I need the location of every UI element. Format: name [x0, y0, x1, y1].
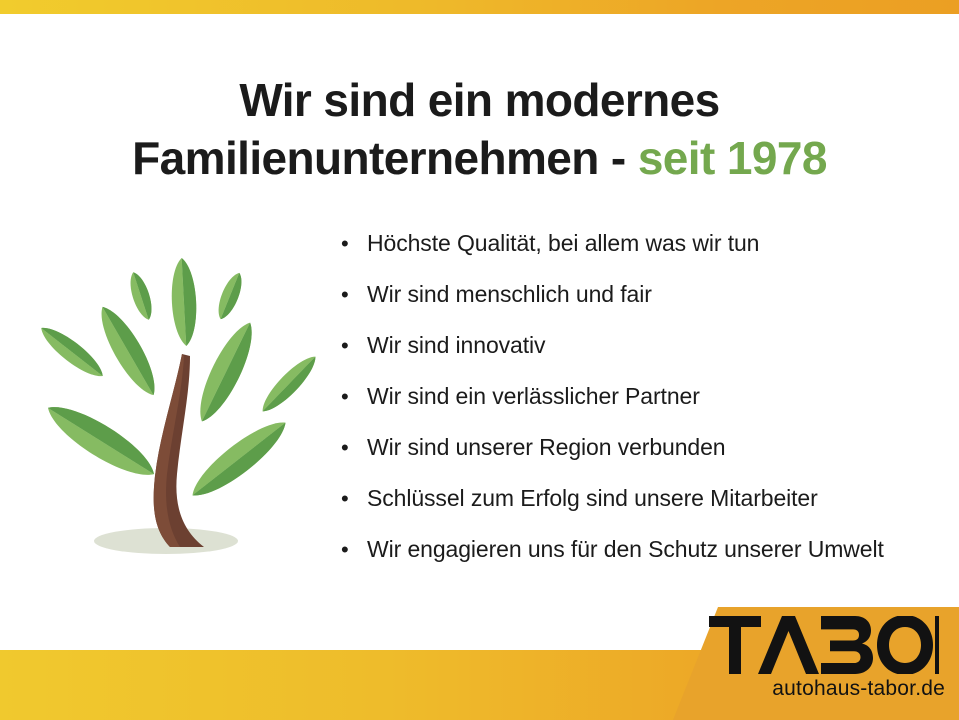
leaf-upper-right — [189, 316, 262, 427]
leaf-upper-left — [91, 300, 165, 402]
leaf-top-left-small — [125, 270, 156, 323]
website-url[interactable]: autohaus-tabor.de — [660, 676, 945, 702]
bullet-marker-icon: • — [341, 229, 367, 259]
tree-illustration — [14, 244, 332, 574]
bullet-marker-icon: • — [341, 382, 367, 412]
slide-canvas: Wir sind ein modernes Familienunternehme… — [0, 0, 959, 720]
list-item-label: Wir engagieren uns für den Schutz unsere… — [367, 534, 951, 564]
list-item: • Wir sind ein verlässlicher Partner — [341, 381, 951, 432]
list-item-label: Höchste Qualität, bei allem was wir tun — [367, 228, 951, 258]
bullet-marker-icon: • — [341, 331, 367, 361]
list-item: • Wir sind innovativ — [341, 330, 951, 381]
list-item-label: Wir sind innovativ — [367, 330, 951, 360]
heading-line-1: Wir sind ein modernes — [0, 71, 959, 129]
leaf-top-right-small — [213, 270, 247, 322]
list-item: • Schlüssel zum Erfolg sind unsere Mitar… — [341, 483, 951, 534]
heading-accent-since-1978: seit 1978 — [638, 132, 827, 184]
bullet-marker-icon: • — [341, 280, 367, 310]
list-item: • Wir sind menschlich und fair — [341, 279, 951, 330]
top-accent-bar — [0, 0, 959, 14]
leaf-lower-left — [40, 395, 163, 488]
list-item: • Höchste Qualität, bei allem was wir tu… — [341, 228, 951, 279]
heading-line-2-plain: Familienunternehmen - — [132, 132, 638, 184]
list-item-label: Wir sind menschlich und fair — [367, 279, 951, 309]
leaf-top-center — [170, 257, 199, 346]
leaf-mid-far-right — [256, 350, 322, 418]
tabor-wordmark — [709, 616, 939, 674]
list-item: • Wir sind unserer Region verbunden — [341, 432, 951, 483]
values-list: • Höchste Qualität, bei allem was wir tu… — [341, 228, 951, 585]
bullet-marker-icon: • — [341, 433, 367, 463]
leaf-lower-right — [184, 412, 294, 507]
list-item-label: Wir sind ein verlässlicher Partner — [367, 381, 951, 411]
list-item-label: Schlüssel zum Erfolg sind unsere Mitarbe… — [367, 483, 951, 513]
page-title: Wir sind ein modernes Familienunternehme… — [0, 71, 959, 187]
heading-line-2: Familienunternehmen - seit 1978 — [0, 129, 959, 187]
bullet-marker-icon: • — [341, 535, 367, 565]
list-item-label: Wir sind unserer Region verbunden — [367, 432, 951, 462]
bullet-marker-icon: • — [341, 484, 367, 514]
list-item: • Wir engagieren uns für den Schutz unse… — [341, 534, 951, 585]
leaf-mid-far-left — [35, 320, 108, 383]
